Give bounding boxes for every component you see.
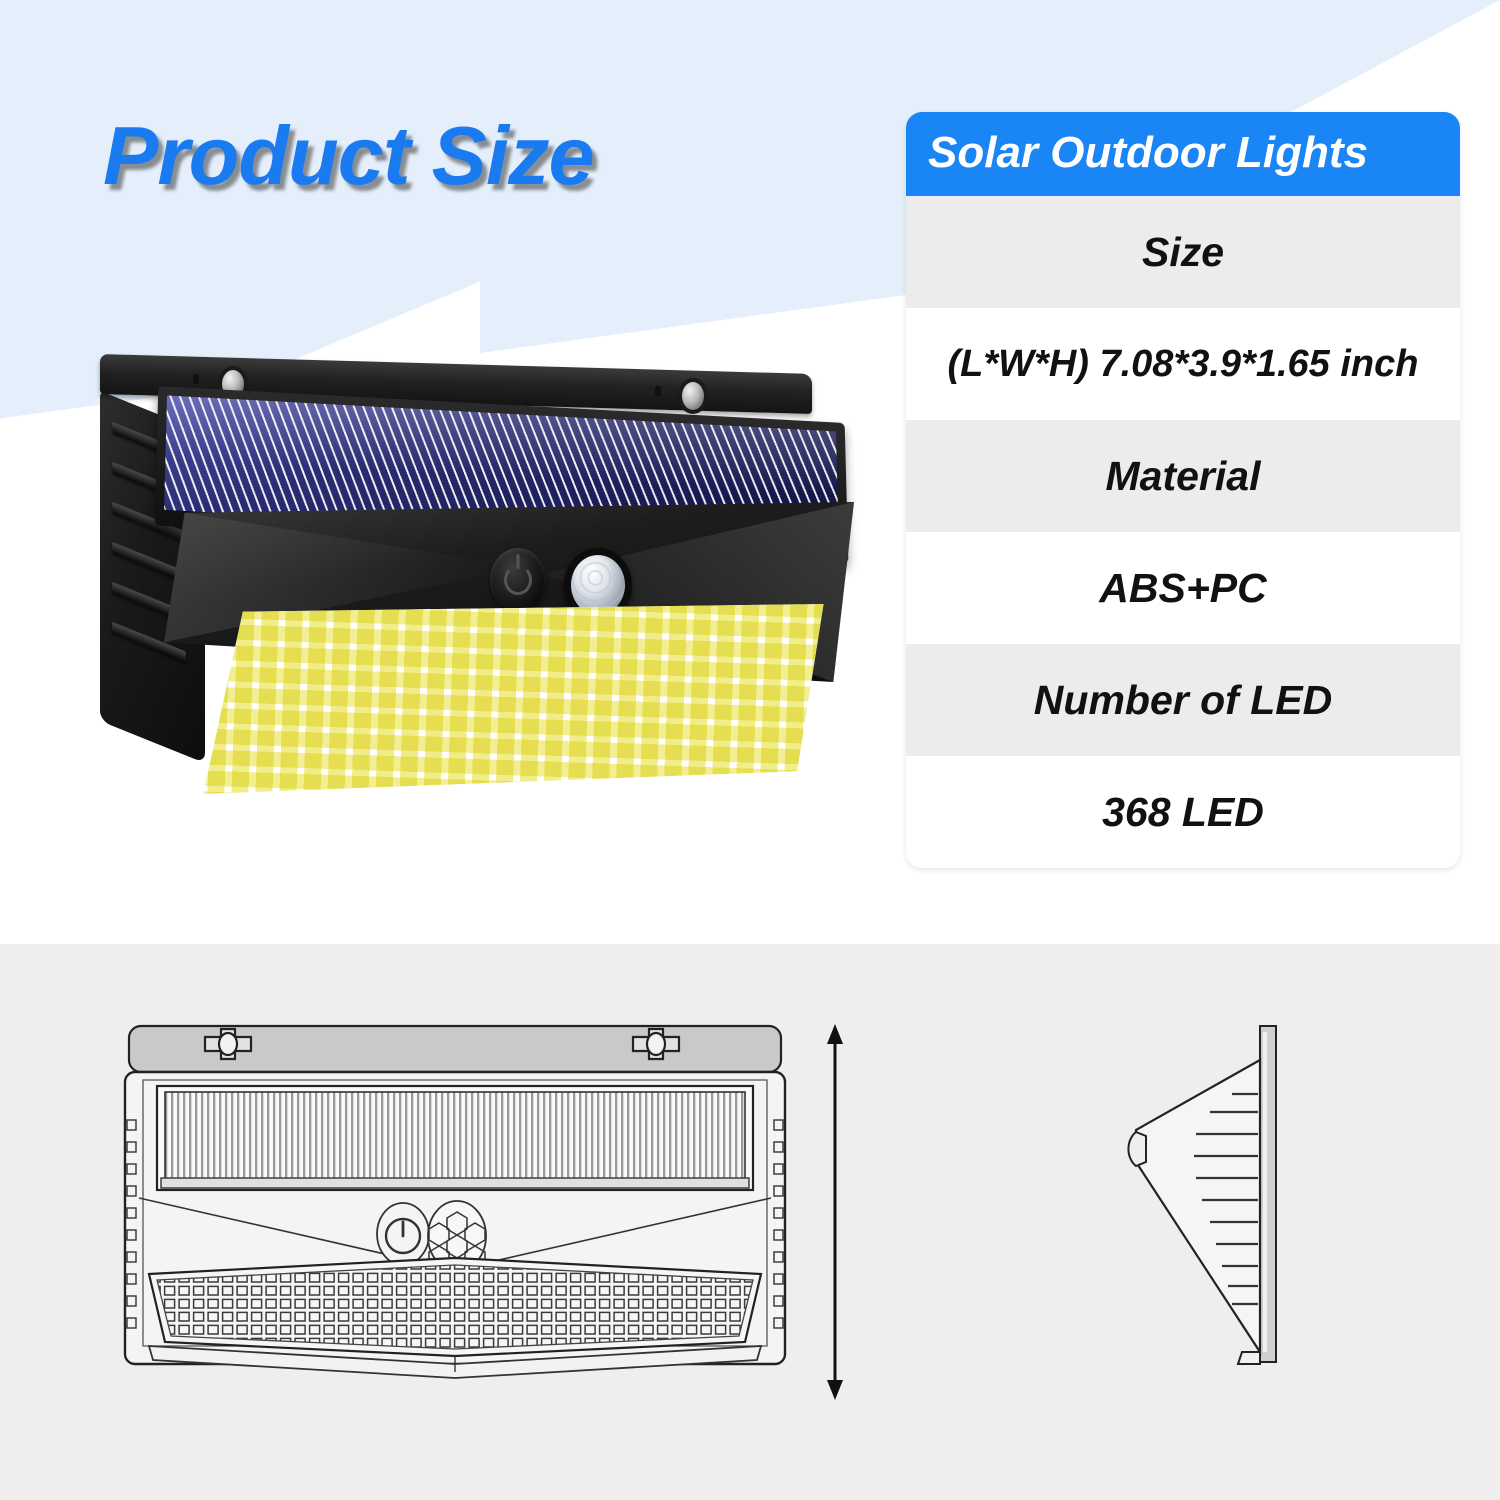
mounting-screw-right bbox=[678, 378, 708, 414]
led-diffuser-panel bbox=[190, 604, 850, 794]
led-chip-array bbox=[190, 604, 850, 794]
product-body bbox=[78, 352, 868, 812]
power-button-icon bbox=[490, 548, 546, 612]
page-title: Product Size bbox=[103, 108, 594, 204]
side-view-drawing bbox=[1110, 1022, 1340, 1382]
bracket-slot-right bbox=[655, 386, 661, 396]
width-dimension-arrow bbox=[815, 1022, 855, 1402]
bottom-panel: W (3.9inch/ 10cm) L (7.08inch/18cm) H (1… bbox=[0, 944, 1500, 1500]
product-size-infographic: Product Size bbox=[0, 0, 1500, 1500]
table-row: (L*W*H) 7.08*3.9*1.65 inch bbox=[906, 308, 1460, 420]
spec-table-header: Solar Outdoor Lights bbox=[906, 112, 1460, 196]
spec-table: Solar Outdoor Lights Size (L*W*H) 7.08*3… bbox=[906, 112, 1460, 868]
table-row: 368 LED bbox=[906, 756, 1460, 868]
product-photo bbox=[60, 330, 890, 830]
front-view-drawing bbox=[105, 1012, 805, 1412]
table-row: Number of LED bbox=[906, 644, 1460, 756]
table-row: Size bbox=[906, 196, 1460, 308]
top-panel: Product Size bbox=[0, 0, 1500, 944]
bracket-slot-left bbox=[193, 374, 199, 384]
table-row: ABS+PC bbox=[906, 532, 1460, 644]
table-row: Material bbox=[906, 420, 1460, 532]
